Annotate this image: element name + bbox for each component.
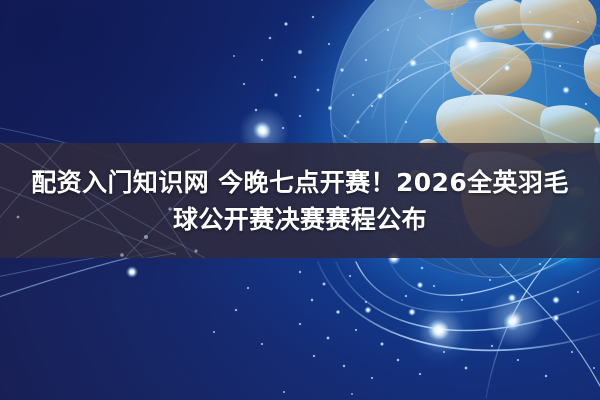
news-banner-image: 配资入门知识网 今晚七点开赛！2026全英羽毛 球公开赛决赛赛程公布 (0, 0, 600, 400)
headline-line-1: 配资入门知识网 今晚七点开赛！2026全英羽毛 (31, 164, 569, 201)
headline-text: 配资入门知识网 今晚七点开赛！2026全英羽毛 球公开赛决赛赛程公布 (0, 143, 600, 258)
headline-line-2: 球公开赛决赛赛程公布 (173, 201, 427, 238)
